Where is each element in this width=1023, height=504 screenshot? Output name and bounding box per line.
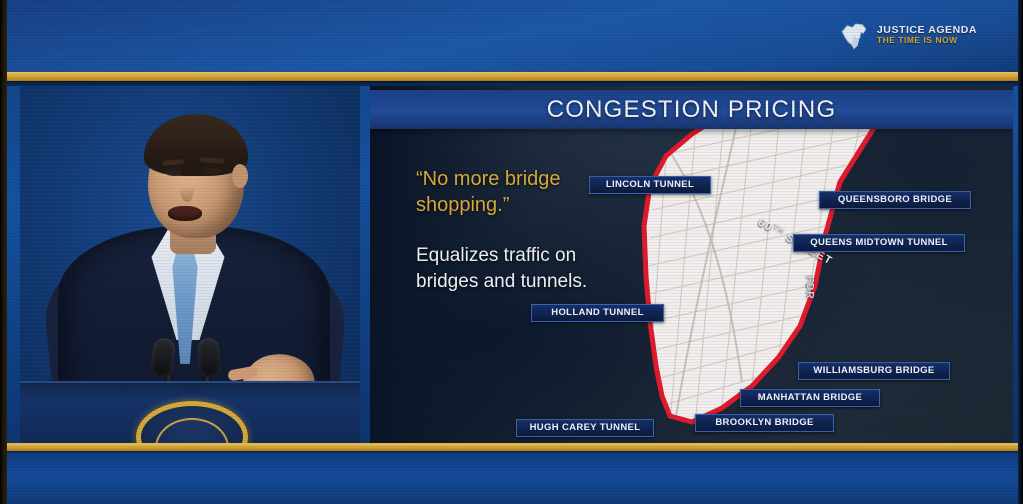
crossing-label-queens-midtown-tunnel: QUEENS MIDTOWN TUNNEL: [793, 234, 965, 252]
mouth: [168, 206, 202, 221]
eye-right: [204, 168, 220, 174]
slide-body-text: Equalizes traffic on bridges and tunnels…: [416, 243, 616, 295]
pull-quote: “No more bridge shopping.”: [416, 166, 606, 218]
crossing-label-manhattan-bridge: MANHATTAN BRIDGE: [740, 389, 880, 407]
new-york-state-outline-icon: [837, 18, 871, 52]
crossing-label-brooklyn-bridge: BROOKLYN BRIDGE: [695, 414, 834, 432]
lower-third-band: [0, 451, 1023, 504]
crossing-label-queensboro-bridge: QUEENSBORO BRIDGE: [819, 191, 971, 209]
page-title: CONGESTION PRICING: [547, 96, 837, 124]
presentation-slide: CONGESTION PRICING “No more bridge shopp…: [370, 86, 1013, 443]
lower-band-texture: [0, 451, 1023, 504]
frame-edge-right: [1018, 0, 1023, 504]
nose: [180, 176, 194, 202]
broadcast-screen: JUSTICE AGENDA THE TIME IS NOW: [0, 0, 1023, 504]
crossing-label-williamsburg-bridge: WILLIAMSBURG BRIDGE: [798, 362, 950, 380]
justice-agenda-logo: JUSTICE AGENDA THE TIME IS NOW: [837, 18, 977, 52]
ear: [232, 164, 248, 188]
state-seal-icon: [136, 401, 248, 443]
fdr-drive-label: FDR: [804, 276, 815, 300]
state-seal-inner-ring: [155, 418, 229, 443]
bottom-gold-divider: [0, 443, 1023, 451]
speaker-video-panel: [20, 86, 360, 443]
frame-edge-left: [0, 0, 7, 504]
logo-line-2: THE TIME IS NOW: [877, 36, 977, 45]
top-gold-divider: [0, 72, 1023, 81]
podium: [20, 381, 360, 443]
microphone-head-icon: [197, 337, 222, 378]
crossing-label-hugh-carey-tunnel: HUGH CAREY TUNNEL: [516, 419, 654, 437]
logo-text-block: JUSTICE AGENDA THE TIME IS NOW: [877, 25, 977, 45]
crossing-label-holland-tunnel: HOLLAND TUNNEL: [531, 304, 664, 322]
slide-title-bar: CONGESTION PRICING: [370, 90, 1013, 129]
top-divider-shadow: [0, 81, 1023, 86]
crossing-label-lincoln-tunnel: LINCOLN TUNNEL: [589, 176, 711, 194]
